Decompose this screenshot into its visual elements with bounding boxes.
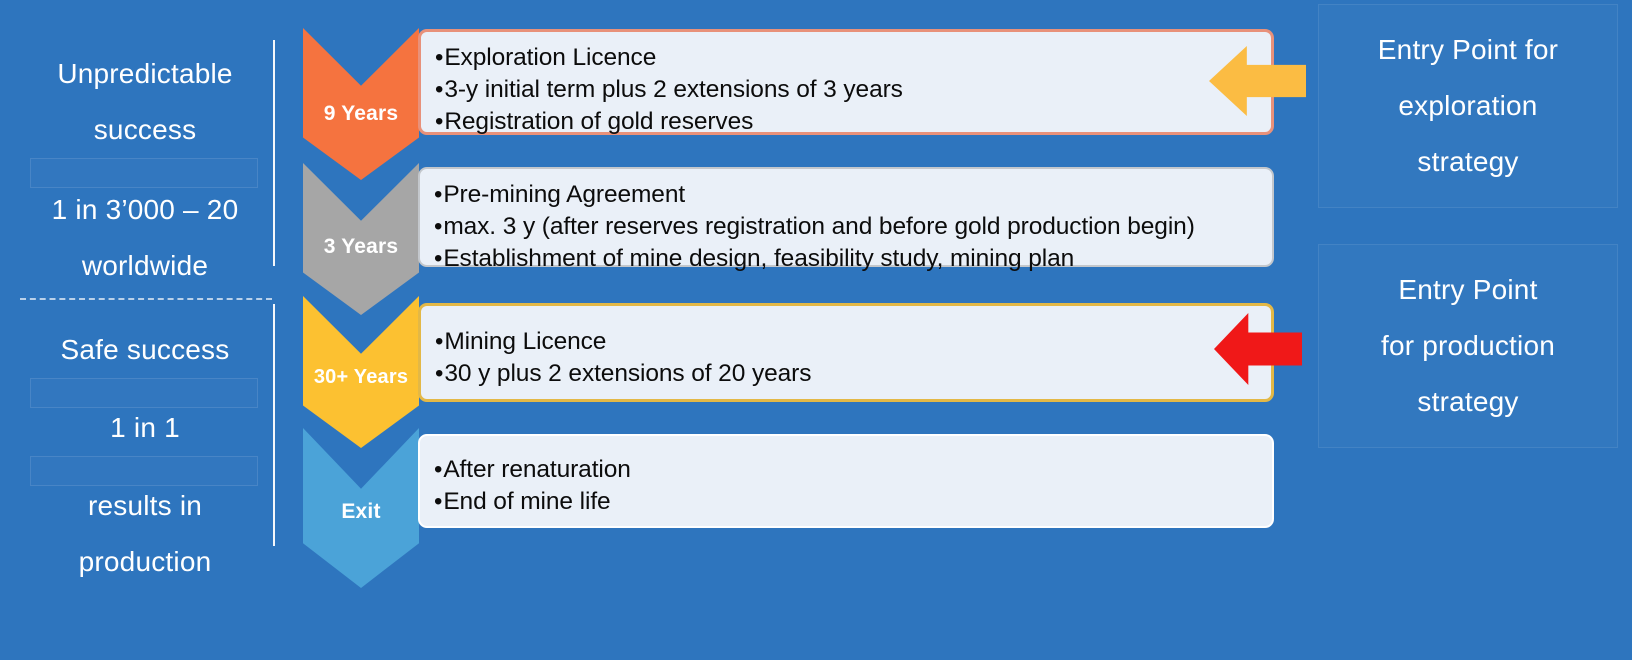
chevron-stage-exit[interactable]: Exit [303, 428, 419, 588]
stage-box-exit[interactable]: After renaturation End of mine life [418, 434, 1274, 528]
bullet-item: End of mine life [434, 486, 1256, 518]
bullet-item: Registration of gold reserves [435, 106, 1255, 138]
sidebar-label-safe: Safe success [16, 322, 274, 377]
entry-point-production-text: Entry Point for production strategy [1381, 262, 1555, 430]
bullet-item: Mining Licence [435, 326, 1255, 358]
stage-box-mining[interactable]: Mining Licence 30 y plus 2 extensions of… [418, 303, 1274, 402]
entry-line: Entry Point for [1378, 22, 1558, 78]
bullet-list-exit: After renaturation End of mine life [434, 454, 1256, 518]
chevron-stage-exploration[interactable]: 9 Years [303, 28, 419, 180]
sidebar-vertical-rule-2 [273, 304, 275, 546]
chevron-label-exploration: 9 Years [324, 102, 399, 126]
sidebar-label-unpredictable-1: Unpredictable [16, 46, 274, 101]
bullet-item: 30 y plus 2 extensions of 20 years [435, 358, 1255, 390]
sidebar-vertical-rule-1 [273, 40, 275, 266]
stage-box-exploration[interactable]: Exploration Licence 3-y initial term plu… [418, 29, 1274, 135]
sidebar-stat-unpredictable-1: 1 in 3’000 – 20 [16, 182, 274, 237]
sidebar-success-rates: Unpredictable success 1 in 3’000 – 20 wo… [16, 22, 274, 626]
sidebar-result-2: production [16, 534, 274, 589]
bullet-item: Exploration Licence [435, 42, 1255, 74]
chevron-label-mining: 30+ Years [314, 366, 408, 389]
chevron-label-exit: Exit [341, 500, 380, 524]
entry-line: Entry Point [1381, 262, 1555, 318]
bullet-list-exploration: Exploration Licence 3-y initial term plu… [435, 42, 1255, 138]
bullet-item: max. 3 y (after reserves registration an… [434, 211, 1256, 243]
chevron-stage-pre-mining[interactable]: 3 Years [303, 163, 419, 315]
bullet-item: 3-y initial term plus 2 extensions of 3 … [435, 74, 1255, 106]
sidebar-label-unpredictable-2: success [16, 102, 274, 157]
entry-line: exploration [1378, 78, 1558, 134]
entry-line: for production [1381, 318, 1555, 374]
sidebar-group-divider [20, 298, 272, 300]
entry-point-exploration-text: Entry Point for exploration strategy [1378, 22, 1558, 190]
bullet-list-mining: Mining Licence 30 y plus 2 extensions of… [435, 326, 1255, 390]
bullet-list-pre-mining: Pre-mining Agreement max. 3 y (after res… [434, 179, 1256, 275]
chevron-label-pre-mining: 3 Years [324, 235, 399, 259]
sidebar-stat-unpredictable-2: worldwide [16, 238, 274, 293]
sidebar-result-1: results in [16, 478, 274, 533]
entry-point-production: Entry Point for production strategy [1318, 244, 1618, 448]
stage-box-pre-mining[interactable]: Pre-mining Agreement max. 3 y (after res… [418, 167, 1274, 267]
bullet-item: Pre-mining Agreement [434, 179, 1256, 211]
bullet-item: After renaturation [434, 454, 1256, 486]
diagram-slide: Unpredictable success 1 in 3’000 – 20 wo… [0, 0, 1632, 660]
entry-line: strategy [1378, 134, 1558, 190]
entry-line: strategy [1381, 374, 1555, 430]
sidebar-stat-safe: 1 in 1 [16, 400, 274, 455]
chevron-stage-mining[interactable]: 30+ Years [303, 296, 419, 448]
entry-point-exploration: Entry Point for exploration strategy [1318, 4, 1618, 208]
bullet-item: Establishment of mine design, feasibilit… [434, 243, 1256, 275]
